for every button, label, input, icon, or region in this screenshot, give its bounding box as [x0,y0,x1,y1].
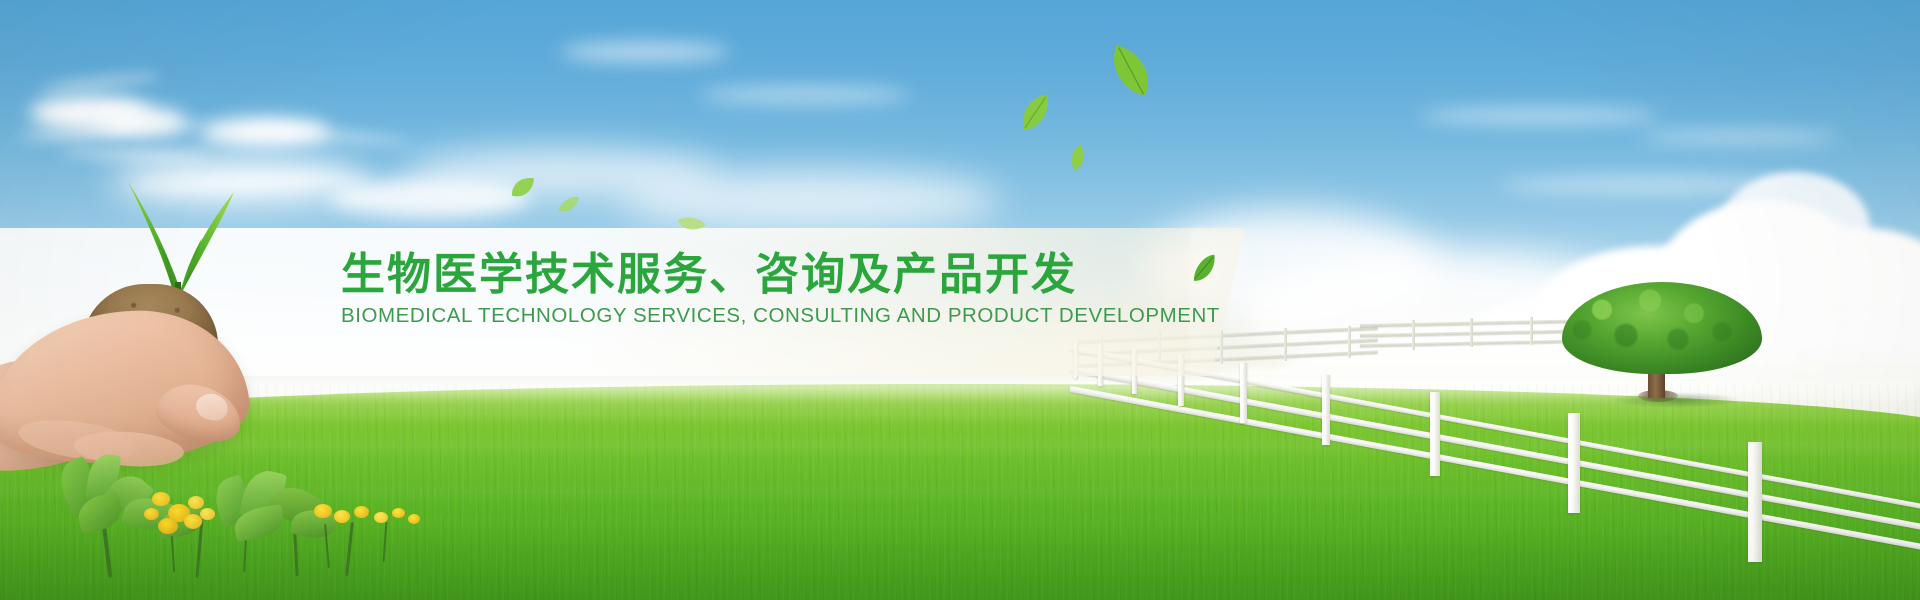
tree-foliage-texture [1562,282,1762,374]
cloud-puff [700,86,910,104]
cloud-wisp [1500,176,1800,194]
cloud-wisp [1420,108,1660,124]
sprout-plant [98,174,268,304]
cloud-puff [200,118,330,146]
tree-canopy [1562,282,1762,374]
hero-banner: 生物医学技术服务、咨询及产品开发 BIOMEDICAL TECHNOLOGY S… [0,0,1920,600]
cloud-wisp [1640,130,1840,144]
cloud-puff [96,108,186,134]
cloud-puff [330,178,530,218]
page-subtitle: BIOMEDICAL TECHNOLOGY SERVICES, CONSULTI… [341,305,1201,328]
page-title: 生物医学技术服务、咨询及产品开发 [341,250,1201,299]
banner-text-block: 生物医学技术服务、咨询及产品开发 BIOMEDICAL TECHNOLOGY S… [341,250,1201,328]
tree [1562,282,1792,402]
cloud-puff [560,42,730,62]
hand-holding-sprout [0,236,308,486]
flower-cluster [48,452,468,600]
